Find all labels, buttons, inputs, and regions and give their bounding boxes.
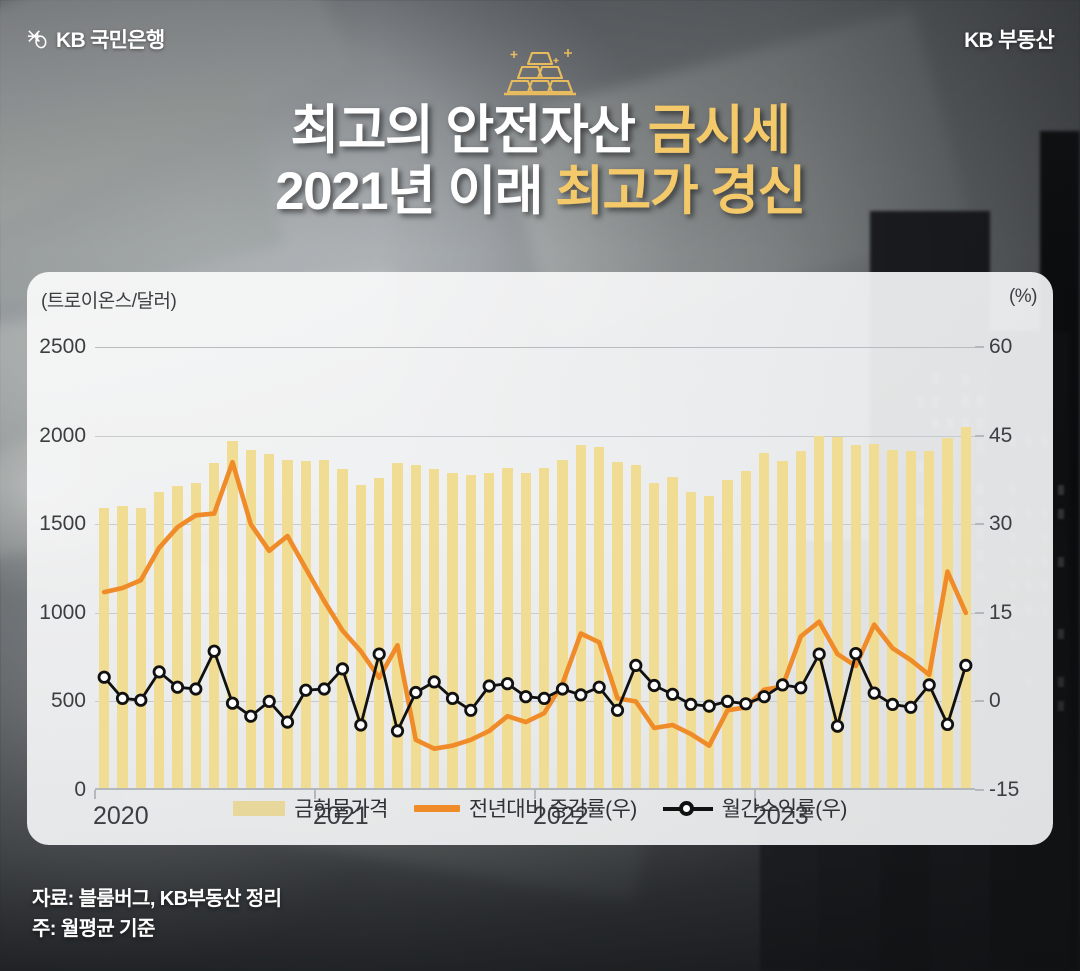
data-point-marker xyxy=(411,687,421,697)
chart-plot-area: 05001000150020002500-1501530456020202021… xyxy=(95,347,975,790)
legend-label: 월간수익률(우) xyxy=(722,793,847,823)
data-point-marker xyxy=(466,705,476,715)
chart-legend: 금현물가격전년대비 증감률(우)월간수익률(우) xyxy=(27,793,1053,823)
kb-kookmin-bank-label: KB 국민은행 xyxy=(56,24,165,54)
left-axis-unit-label: (트로이온스/달러) xyxy=(41,286,176,313)
data-point-marker xyxy=(154,667,164,677)
data-point-marker xyxy=(961,660,971,670)
data-point-marker xyxy=(887,699,897,709)
title-line-2-white: 2021년 이래 xyxy=(275,162,555,221)
data-point-marker xyxy=(172,682,182,692)
data-point-marker xyxy=(319,684,329,694)
chart-card: (트로이온스/달러) (%) 05001000150020002500-1501… xyxy=(27,272,1053,845)
tick-mark xyxy=(975,523,984,525)
title-line-1-gold: 금시세 xyxy=(648,101,790,160)
data-point-marker xyxy=(796,683,806,693)
data-point-marker xyxy=(686,699,696,709)
y-axis-tick-left: 2000 xyxy=(39,424,86,448)
data-point-marker xyxy=(392,726,402,736)
right-axis-unit-label: (%) xyxy=(1009,286,1037,308)
legend-swatch-line xyxy=(414,805,460,812)
title-line-2: 2021년 이래 최고가 경신 xyxy=(0,161,1080,222)
data-point-marker xyxy=(832,721,842,731)
data-point-marker xyxy=(209,646,219,656)
title-line-2-gold: 최고가 경신 xyxy=(555,162,805,221)
kb-kookmin-bank-logo: KB 국민은행 xyxy=(26,24,165,54)
kb-real-estate-logo: KB 부동산 xyxy=(964,24,1054,54)
y-axis-tick-left: 1000 xyxy=(39,601,86,625)
data-point-marker xyxy=(337,664,347,674)
footer-note: 주: 월평균 기준 xyxy=(32,914,281,944)
data-point-marker xyxy=(631,660,641,670)
y-axis-tick-left: 2500 xyxy=(39,335,86,359)
data-point-marker xyxy=(594,682,604,692)
data-point-marker xyxy=(557,684,567,694)
data-point-marker xyxy=(191,684,201,694)
tick-mark xyxy=(975,789,984,791)
legend-item[interactable]: 월간수익률(우) xyxy=(663,793,847,823)
y-axis-tick-right: 60 xyxy=(989,335,1012,359)
legend-item[interactable]: 전년대비 증감률(우) xyxy=(414,793,637,823)
data-point-marker xyxy=(356,720,366,730)
data-point-marker xyxy=(649,680,659,690)
data-point-marker xyxy=(777,680,787,690)
data-point-marker xyxy=(759,692,769,702)
data-point-marker xyxy=(906,702,916,712)
data-point-marker xyxy=(502,679,512,689)
tick-mark xyxy=(975,700,984,702)
line-series-layer xyxy=(95,347,975,790)
data-point-marker xyxy=(246,711,256,721)
title-line-1: 최고의 안전자산 금시세 xyxy=(0,100,1080,161)
kb-star-icon xyxy=(26,28,49,51)
data-point-marker xyxy=(741,699,751,709)
data-point-marker xyxy=(447,693,457,703)
data-point-marker xyxy=(869,688,879,698)
data-point-marker xyxy=(576,690,586,700)
footer-notes: 자료: 블룸버그, KB부동산 정리 주: 월평균 기준 xyxy=(32,884,281,944)
page-title: 최고의 안전자산 금시세 2021년 이래 최고가 경신 xyxy=(0,100,1080,223)
data-point-marker xyxy=(851,648,861,658)
data-point-marker xyxy=(301,685,311,695)
tick-mark xyxy=(975,612,984,614)
tick-mark xyxy=(975,435,984,437)
y-axis-tick-left: 1500 xyxy=(39,512,86,536)
data-point-marker xyxy=(667,689,677,699)
data-point-marker xyxy=(99,672,109,682)
title-line-1-white: 최고의 안전자산 xyxy=(290,101,647,160)
y-axis-tick-right: 0 xyxy=(989,689,1001,713)
data-point-marker xyxy=(136,695,146,705)
data-point-marker xyxy=(612,705,622,715)
legend-label: 금현물가격 xyxy=(294,793,388,823)
y-axis-tick-left: 500 xyxy=(51,689,86,713)
legend-item[interactable]: 금현물가격 xyxy=(233,793,388,823)
legend-label: 전년대비 증감률(우) xyxy=(469,793,637,823)
data-point-marker xyxy=(704,701,714,711)
data-point-marker xyxy=(484,681,494,691)
y-axis-tick-right: 45 xyxy=(989,424,1012,448)
tick-mark xyxy=(975,346,984,348)
data-point-marker xyxy=(814,649,824,659)
y-axis-tick-right: 30 xyxy=(989,512,1012,536)
data-point-marker xyxy=(539,693,549,703)
data-point-marker xyxy=(117,693,127,703)
legend-swatch-line-marker xyxy=(663,800,713,816)
footer-source: 자료: 블룸버그, KB부동산 정리 xyxy=(32,884,281,914)
data-point-marker xyxy=(264,696,274,706)
data-point-marker xyxy=(924,680,934,690)
legend-swatch-bar xyxy=(233,801,285,816)
data-point-marker xyxy=(521,692,531,702)
data-point-marker xyxy=(429,677,439,687)
y-axis-tick-right: 15 xyxy=(989,601,1012,625)
data-point-marker xyxy=(942,719,952,729)
data-point-marker xyxy=(227,698,237,708)
data-point-marker xyxy=(282,717,292,727)
data-point-marker xyxy=(722,696,732,706)
data-point-marker xyxy=(374,649,384,659)
